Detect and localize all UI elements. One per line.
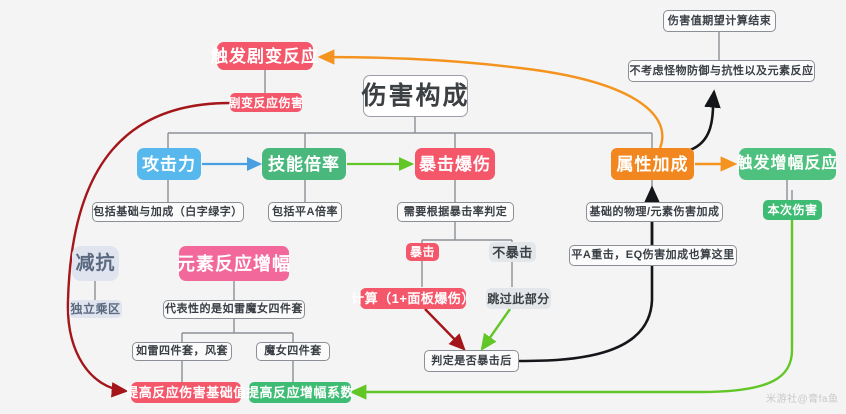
node-crit-detail: 需要根据暴击率判定 <box>397 202 514 222</box>
node-label: 提高反应伤害基础值 <box>125 386 247 399</box>
node-after-crit-check: 判定是否暴击后 <box>424 350 519 372</box>
node-main-title: 伤害构成 <box>363 75 468 117</box>
node-label: 包括基础与加成（白字绿字） <box>93 207 243 218</box>
node-attribute-bonus[interactable]: 属性加成 <box>611 148 694 180</box>
node-label: 平A重击，EQ伤害加成也算这里 <box>571 250 734 261</box>
wire-calc-to-aftercrit <box>425 309 464 349</box>
node-transformative-damage[interactable]: 剧变反应伤害 <box>230 93 302 112</box>
node-this-damage[interactable]: 本次伤害 <box>763 200 822 220</box>
node-trigger-amplifying[interactable]: 触发增幅反应 <box>739 148 836 180</box>
node-independent-zone[interactable]: 独立乘区 <box>69 300 122 318</box>
node-label: 不暴击 <box>492 246 533 259</box>
damage-composition-diagram: 触发剧变反应 剧变反应伤害 伤害构成 伤害值期望计算结束 不考虑怪物防御与抗性以… <box>0 0 846 414</box>
node-label: 跳过此部分 <box>487 293 550 305</box>
node-label: 暴击爆伤 <box>419 156 491 173</box>
node-label: 属性加成 <box>617 156 689 173</box>
wire-attr-to-noconsider <box>690 92 714 150</box>
node-label: 判定是否暴击后 <box>431 356 512 367</box>
node-label: 计算（1+面板爆伤） <box>351 292 475 305</box>
node-label: 剧变反应伤害 <box>229 97 304 109</box>
node-crit-no[interactable]: 不暴击 <box>489 242 536 262</box>
node-atk-detail: 包括基础与加成（白字绿字） <box>92 202 244 222</box>
watermark: 米游社@膏fa鱼 <box>766 390 839 405</box>
node-label: 不考虑怪物防御与抗性以及元素反应 <box>630 66 814 77</box>
node-label: 如雷四件套，风套 <box>136 346 228 357</box>
node-label: 触发剧变反应 <box>211 48 319 65</box>
node-label: 基础的物理/元素伤害加成 <box>589 207 719 218</box>
node-attack-power[interactable]: 攻击力 <box>137 148 201 180</box>
node-label: 包括平A倍率 <box>272 207 338 218</box>
node-thundering-set: 如雷四件套，风套 <box>132 342 232 361</box>
node-label: 独立乘区 <box>70 303 120 315</box>
node-label: 元素反应增幅 <box>177 255 291 273</box>
node-label: 技能倍率 <box>268 156 340 173</box>
node-label: 魔女四件套 <box>264 346 322 357</box>
page-title: 伤害构成 <box>362 84 470 109</box>
node-crit-damage[interactable]: 暴击爆伤 <box>415 148 495 180</box>
watermark-text: 米游社@膏fa鱼 <box>766 394 839 405</box>
node-label: 需要根据暴击率判定 <box>404 207 508 218</box>
node-label: 伤害值期望计算结束 <box>668 16 772 27</box>
node-label: 暴击 <box>410 246 435 258</box>
node-representative-sets: 代表性的是如雷魔女四件套 <box>163 300 305 319</box>
node-label: 提高反应增幅系数 <box>246 386 354 399</box>
node-attr-detail-2: 平A重击，EQ伤害加成也算这里 <box>569 245 737 266</box>
node-crit-calc[interactable]: 计算（1+面板爆伤） <box>360 288 466 309</box>
node-no-consider: 不考虑怪物防御与抗性以及元素反应 <box>628 60 815 82</box>
node-attr-detail: 基础的物理/元素伤害加成 <box>586 202 723 222</box>
node-label: 减抗 <box>75 254 115 273</box>
node-crit-yes[interactable]: 暴击 <box>406 243 439 261</box>
node-label: 攻击力 <box>142 156 196 173</box>
node-crit-skip[interactable]: 跳过此部分 <box>486 288 551 309</box>
node-elemental-amplify[interactable]: 元素反应增幅 <box>179 246 289 281</box>
node-skill-multiplier[interactable]: 技能倍率 <box>262 148 346 180</box>
node-trigger-transformative[interactable]: 触发剧变反应 <box>217 42 313 70</box>
wire-skip-to-aftercrit <box>482 309 510 349</box>
node-witch-set: 魔女四件套 <box>256 342 330 361</box>
node-resist-reduction[interactable]: 减抗 <box>72 246 119 281</box>
node-expectation-end: 伤害值期望计算结束 <box>663 10 776 32</box>
node-label: 本次伤害 <box>767 204 817 216</box>
node-raise-base-value[interactable]: 提高反应伤害基础值 <box>131 382 241 403</box>
node-raise-amplify-coefficient[interactable]: 提高反应增幅系数 <box>249 382 351 403</box>
node-skill-detail: 包括平A倍率 <box>268 202 342 222</box>
node-label: 代表性的是如雷魔女四件套 <box>165 304 303 315</box>
node-label: 触发增幅反应 <box>737 156 839 172</box>
